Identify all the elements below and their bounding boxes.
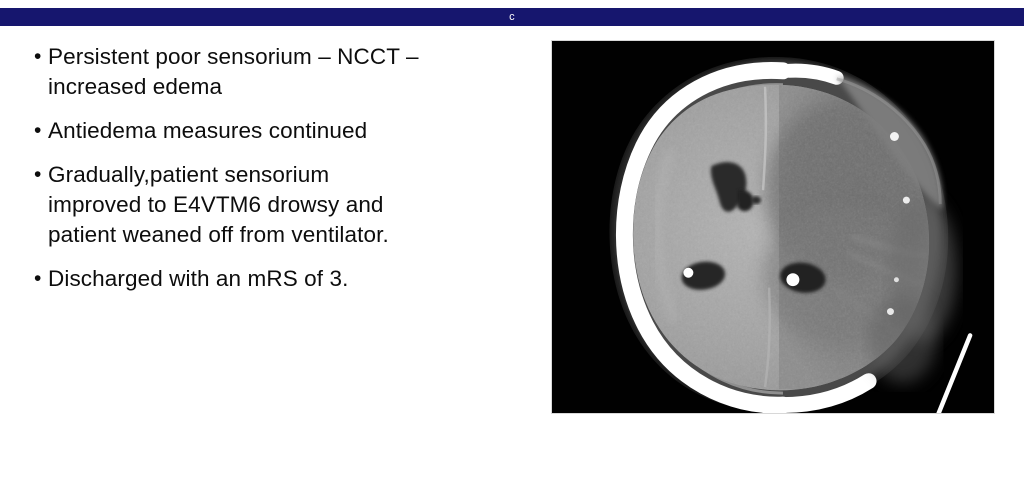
ct-scan-figure — [552, 41, 994, 413]
slide-title-bar: c — [0, 8, 1024, 26]
bullet-point-icon: • — [30, 264, 48, 294]
bullet-item-text: Discharged with an mRS of 3. — [48, 264, 530, 294]
slide-title-text: c — [509, 12, 515, 23]
bullet-item-text: Antiedema measures continued — [48, 116, 530, 146]
list-item: • Antiedema measures continued — [30, 116, 530, 146]
list-item: • Discharged with an mRS of 3. — [30, 264, 530, 294]
bullet-list: • Persistent poor sensorium – NCCT – inc… — [30, 42, 530, 308]
bullet-item-text: Persistent poor sensorium – NCCT – incre… — [48, 42, 530, 102]
bullet-point-icon: • — [30, 42, 48, 72]
ncct-head-ct-image — [551, 40, 995, 414]
list-item: • Persistent poor sensorium – NCCT – inc… — [30, 42, 530, 102]
ct-scan-graphic — [552, 41, 994, 413]
bullet-point-icon: • — [30, 160, 48, 190]
bullet-item-text: Gradually,patient sensorium improved to … — [48, 160, 530, 250]
bullet-point-icon: • — [30, 116, 48, 146]
list-item: • Gradually,patient sensorium improved t… — [30, 160, 530, 250]
